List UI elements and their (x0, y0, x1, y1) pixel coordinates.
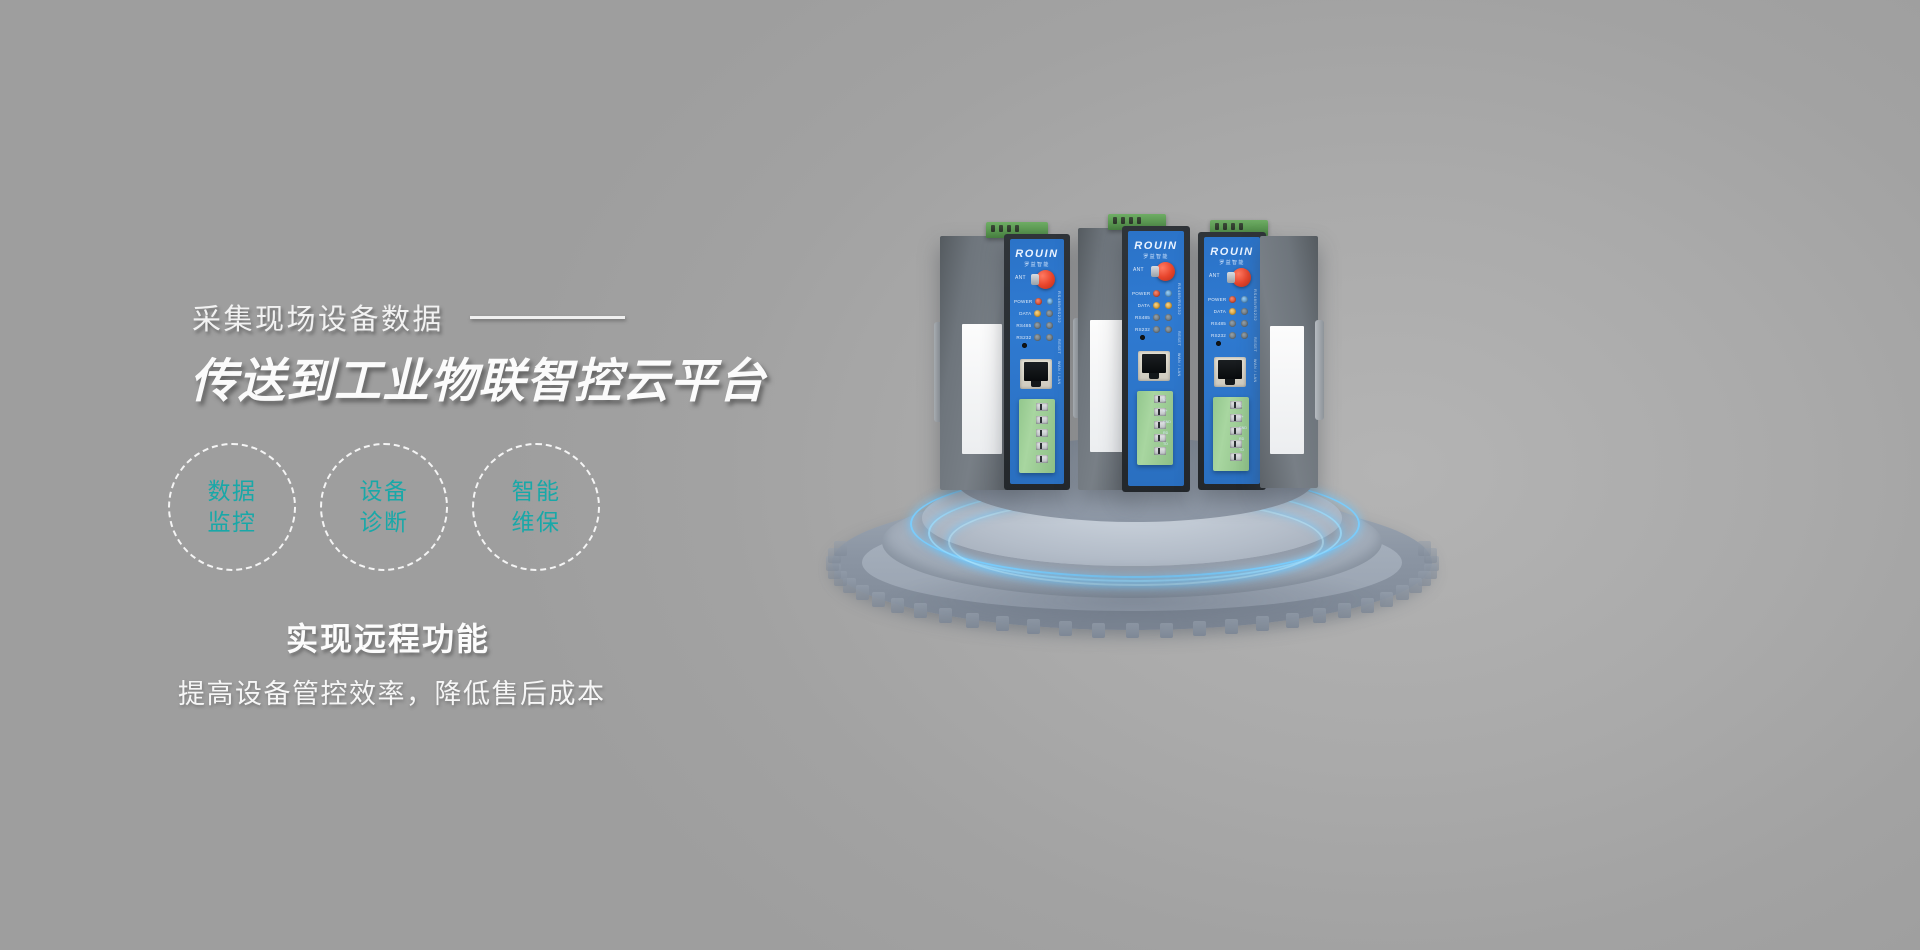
reset-label: RESET (1057, 339, 1061, 354)
led-indicator (1229, 332, 1236, 339)
gateway-device-right[interactable]: ROUIN 罗益智能 ANT POWER DATA (1198, 220, 1338, 492)
product-scene: ROUIN 罗益智能 ANT POWER DATA (760, 170, 1920, 790)
led-row: POWER (1132, 287, 1178, 299)
brand-subtitle: 罗益智能 (1204, 259, 1260, 266)
product-banner: 采集现场设备数据 传送到工业物联智控云平台 数据 监控 设备 诊断 智能 维保 … (0, 0, 1920, 950)
tagline: 提高设备管控效率，降低售后成本 (178, 672, 606, 711)
led-label: DATA (1208, 309, 1226, 314)
led-indicator (1046, 334, 1053, 341)
eyebrow-text: 采集现场设备数据 (192, 296, 444, 338)
gateway-device-left[interactable]: ROUIN 罗益智能 ANT POWER DATA (940, 222, 1070, 492)
led-indicator (1153, 326, 1160, 333)
brand-logo: ROUIN (1204, 246, 1260, 258)
reset-button[interactable] (1022, 343, 1027, 348)
din-rail-clip (1315, 320, 1324, 420)
led-indicator (1047, 298, 1054, 305)
led-label: POWER (1014, 299, 1032, 304)
led-indicator (1165, 314, 1172, 321)
brand-logo: ROUIN (1010, 248, 1064, 260)
led-indicator (1046, 310, 1053, 317)
gear-tooth (1409, 578, 1422, 593)
rj45-ethernet-port[interactable] (1138, 351, 1170, 381)
lan-port-label: WAN / LAN (1057, 361, 1061, 385)
led-indicator-group: POWER DATA RS485 (1132, 287, 1178, 335)
side-code-label: RS485/RS232 (1177, 283, 1182, 315)
antenna-connector (1036, 270, 1055, 289)
feature-circle-data-monitoring[interactable]: 数据 监控 (168, 443, 296, 571)
led-indicator (1241, 332, 1248, 339)
led-row: RS232 (1208, 329, 1254, 341)
side-code-label: RS485/RS232 (1057, 291, 1062, 323)
antenna-label: ANT (1015, 275, 1026, 281)
device-faceplate: ROUIN 罗益智能 ANT POWER DATA (1010, 239, 1064, 484)
gear-tooth (856, 585, 869, 600)
device-front-panel: ROUIN 罗益智能 ANT POWER DATA (1004, 234, 1070, 490)
led-label: DATA (1014, 311, 1031, 316)
left-text-panel: 采集现场设备数据 传送到工业物联智控云平台 数据 监控 设备 诊断 智能 维保 … (0, 0, 880, 950)
led-indicator (1153, 302, 1160, 309)
led-row: RS485 (1014, 319, 1058, 331)
led-indicator (1165, 302, 1172, 309)
gateway-device-center[interactable]: ROUIN 罗益智能 ANT POWER DATA (1078, 214, 1196, 494)
led-indicator (1241, 320, 1248, 327)
led-row: RS232 (1014, 331, 1058, 343)
gear-tooth (834, 541, 847, 556)
side-code-label: RS485/RS232 (1253, 289, 1258, 321)
led-label: RS232 (1014, 335, 1031, 340)
brand-logo: ROUIN (1128, 240, 1184, 252)
page-title: 传送到工业物联智控云平台 (190, 342, 766, 411)
led-indicator-group: POWER DATA RS485 (1014, 295, 1058, 343)
screw-terminal-block[interactable]: V- V+ GND RD TD (1137, 391, 1173, 465)
gear-tooth (1424, 548, 1437, 563)
led-row: DATA (1208, 305, 1254, 317)
led-row: DATA (1132, 299, 1178, 311)
led-indicator (1153, 314, 1160, 321)
subheading: 实现远程功能 (286, 614, 490, 660)
brand-subtitle: 罗益智能 (1010, 261, 1064, 268)
eyebrow-row: 采集现场设备数据 (192, 296, 625, 338)
led-row: RS485 (1132, 311, 1178, 323)
led-label: POWER (1132, 291, 1150, 296)
screw-terminal-block[interactable]: V- V+ GND RD TD (1213, 397, 1249, 471)
led-row: RS232 (1132, 323, 1178, 335)
led-indicator (1165, 290, 1172, 297)
led-indicator (1241, 308, 1248, 315)
led-label: RS232 (1132, 327, 1150, 332)
led-indicator (1034, 334, 1041, 341)
reset-button[interactable] (1216, 341, 1221, 346)
reset-button[interactable] (1140, 335, 1145, 340)
feature-circle-label-line1: 数据 (208, 476, 257, 507)
antenna-connector (1156, 262, 1175, 281)
reset-label: RESET (1177, 331, 1181, 346)
device-side-housing (1260, 236, 1318, 488)
feature-circle-label-line1: 智能 (512, 476, 561, 507)
led-row: RS485 (1208, 317, 1254, 329)
led-indicator (1241, 296, 1248, 303)
brand-subtitle: 罗益智能 (1128, 253, 1184, 260)
device-faceplate: ROUIN 罗益智能 ANT POWER DATA (1128, 231, 1184, 486)
led-indicator (1229, 308, 1236, 315)
feature-circle-label-line2: 诊断 (360, 507, 409, 538)
terminal-pin-labels: V- V+ GND RD TD (1239, 401, 1247, 456)
led-row: DATA (1014, 307, 1058, 319)
device-front-panel: ROUIN 罗益智能 ANT POWER DATA (1198, 232, 1266, 490)
device-faceplate: ROUIN 罗益智能 ANT POWER DATA (1204, 237, 1260, 484)
feature-circle-label-line1: 设备 (360, 476, 409, 507)
feature-circle-device-diagnosis[interactable]: 设备 诊断 (320, 443, 448, 571)
lan-port-label: WAN / LAN (1177, 353, 1181, 377)
antenna-label: ANT (1133, 267, 1144, 273)
antenna-label: ANT (1209, 273, 1220, 279)
feature-circle-smart-maintenance[interactable]: 智能 维保 (472, 443, 600, 571)
led-indicator (1046, 322, 1053, 329)
rj45-ethernet-port[interactable] (1214, 357, 1246, 387)
feature-circle-label-line2: 维保 (512, 507, 561, 538)
led-label: RS485 (1132, 315, 1150, 320)
lan-port-label: WAN / LAN (1253, 359, 1257, 383)
terminal-pin-labels: V- V+ GND RD TD (1163, 395, 1171, 450)
led-indicator-group: POWER DATA RS485 (1208, 293, 1254, 341)
led-indicator (1034, 322, 1041, 329)
eyebrow-rule (470, 316, 625, 319)
device-side-housing (940, 236, 1012, 490)
led-row: POWER (1014, 295, 1058, 307)
device-spec-label (1270, 326, 1304, 454)
led-indicator (1034, 310, 1041, 317)
device-spec-label (962, 324, 1002, 454)
led-label: RS485 (1208, 321, 1226, 326)
led-row: POWER (1208, 293, 1254, 305)
led-indicator (1229, 320, 1236, 327)
led-label: POWER (1208, 297, 1226, 302)
floor-shadow (880, 562, 1390, 638)
rj45-ethernet-port[interactable] (1020, 359, 1052, 389)
gear-tooth (1396, 585, 1409, 600)
feature-circle-label-line2: 监控 (208, 507, 257, 538)
led-label: RS232 (1208, 333, 1226, 338)
device-front-panel: ROUIN 罗益智能 ANT POWER DATA (1122, 226, 1190, 492)
led-indicator (1035, 298, 1042, 305)
led-indicator (1153, 290, 1160, 297)
screw-terminal-block[interactable] (1019, 399, 1055, 473)
device-spec-label (1090, 320, 1124, 452)
led-label: DATA (1132, 303, 1150, 308)
reset-label: RESET (1253, 337, 1257, 352)
led-label: RS485 (1014, 323, 1031, 328)
led-indicator (1229, 296, 1236, 303)
antenna-connector (1232, 268, 1251, 287)
led-indicator (1165, 326, 1172, 333)
feature-circle-row: 数据 监控 设备 诊断 智能 维保 (168, 443, 600, 571)
